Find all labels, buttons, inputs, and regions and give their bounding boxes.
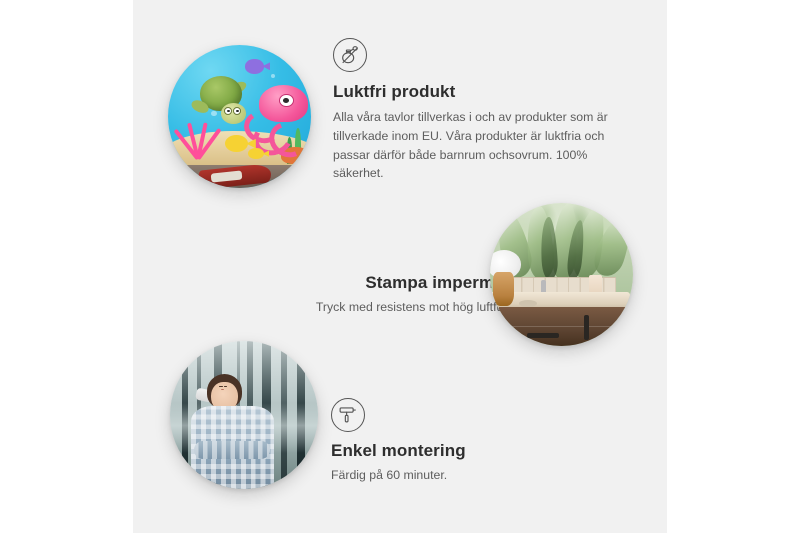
feature-mounting: Enkel montering Färdig på 60 minuter.	[331, 398, 631, 485]
drawer-handle-icon	[527, 333, 558, 338]
painter-person	[191, 374, 274, 489]
screenshot-canvas: Luktfri produkt Alla våra tavlor tillver…	[0, 0, 800, 533]
bubble-icon	[271, 74, 275, 78]
feature-body: Färdig på 60 minuter.	[331, 466, 631, 485]
photo-ocean-mural[interactable]	[168, 45, 311, 188]
blue-fish-icon	[245, 59, 264, 73]
photo-bathroom-wallpaper[interactable]	[490, 203, 633, 346]
feature-title: Luktfri produkt	[333, 81, 638, 102]
drawer-divider	[499, 326, 628, 327]
cabinet-handle-icon	[584, 315, 589, 341]
paint-roller-icon	[331, 398, 365, 432]
feature-odourless: Luktfri produkt Alla våra tavlor tillver…	[333, 38, 638, 183]
photo-painter-forest[interactable]	[170, 341, 318, 489]
no-fragrance-icon	[333, 38, 367, 72]
painter-scene	[170, 341, 318, 489]
bathroom-scene	[490, 203, 633, 346]
feature-title: Enkel montering	[331, 440, 631, 461]
crossed-arms	[194, 441, 270, 459]
vase-icon	[493, 272, 514, 306]
feature-body: Alla våra tavlor tillverkas i och av pro…	[333, 108, 638, 183]
ocean-scene	[168, 45, 311, 188]
product-feature-panel: Luktfri produkt Alla våra tavlor tillver…	[133, 0, 667, 533]
